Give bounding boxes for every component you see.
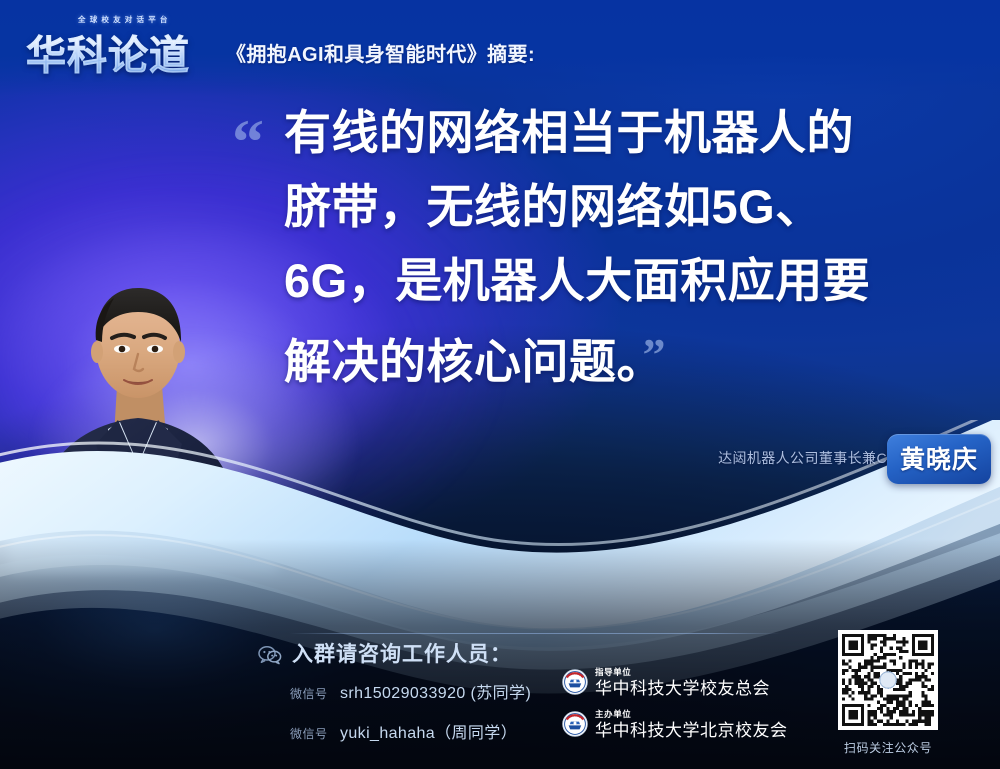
- organizer-row: 指导单位 华中科技大学校友总会: [562, 668, 770, 697]
- header-subtitle: 《拥抱AGI和具身智能时代》摘要:: [226, 38, 535, 67]
- header: 全球校友对话平台 华科论道 《拥抱AGI和具身智能时代》摘要:: [0, 0, 1000, 96]
- quote-line-text: 脐带，无线的网络如5G、: [284, 180, 823, 233]
- qr-code[interactable]: [838, 630, 938, 730]
- quote-lines: 有线的网络相当于机器人的 脐带，无线的网络如5G、 6G，是机器人大面积应用要 …: [284, 96, 952, 399]
- quote-line: 6G，是机器人大面积应用要: [284, 244, 952, 318]
- organizer-name: 华中科技大学北京校友会: [595, 722, 788, 739]
- quote-line-text: 解决的核心问题。: [284, 335, 641, 388]
- university-seal-icon: [562, 711, 588, 737]
- quote-line-text: 6G，是机器人大面积应用要: [284, 254, 870, 307]
- quote-line: 脐带，无线的网络如5G、: [284, 170, 952, 244]
- footer: 入群请咨询工作人员： 微信号 srh15029033920 (苏同学) 微信号 …: [0, 600, 1000, 769]
- quote-close-mark: ”: [643, 329, 667, 380]
- brand-logo[interactable]: 全球校友对话平台 华科论道: [26, 14, 218, 72]
- footer-divider: [290, 633, 780, 634]
- speaker-name-badge: 黄晓庆: [887, 434, 991, 484]
- wechat-icon: [258, 645, 282, 665]
- contact-row: 微信号 srh15029033920 (苏同学): [290, 679, 531, 703]
- contact-value: yuki_hahaha（周同学）: [340, 725, 517, 742]
- qr-caption: 扫码关注公众号: [838, 739, 938, 756]
- quote-line-text: 有线的网络相当于机器人的: [284, 106, 854, 159]
- contact-label: 微信号: [290, 727, 328, 741]
- qr-section[interactable]: 扫码关注公众号: [838, 630, 938, 756]
- poster-root: 全球校友对话平台 华科论道 《拥抱AGI和具身智能时代》摘要: “ 有线的网络相…: [0, 0, 1000, 769]
- organizer-kind: 主办单位: [595, 710, 788, 719]
- footer-title: 入群请咨询工作人员：: [292, 638, 512, 668]
- contact-value: srh15029033920 (苏同学): [340, 685, 531, 702]
- organizer-row: 主办单位 华中科技大学北京校友会: [562, 710, 788, 739]
- attribution: 达闼机器人公司董事长兼CEO 黄晓庆: [718, 448, 908, 468]
- organizer-name: 华中科技大学校友总会: [595, 680, 770, 697]
- speaker-role: 达闼机器人公司董事长兼CEO: [718, 450, 908, 466]
- organizer-text: 主办单位 华中科技大学北京校友会: [595, 710, 788, 739]
- contact-label: 微信号: [290, 687, 328, 701]
- quote-line: 有线的网络相当于机器人的: [284, 96, 952, 170]
- quote-line: 解决的核心问题。”: [284, 318, 952, 399]
- organizer-text: 指导单位 华中科技大学校友总会: [595, 668, 770, 697]
- contact-row: 微信号 yuki_hahaha（周同学）: [290, 719, 517, 743]
- organizer-kind: 指导单位: [595, 668, 770, 677]
- university-seal-icon: [562, 669, 588, 695]
- quote-open-mark: “: [232, 110, 264, 174]
- logo-text: 华科论道: [26, 23, 190, 81]
